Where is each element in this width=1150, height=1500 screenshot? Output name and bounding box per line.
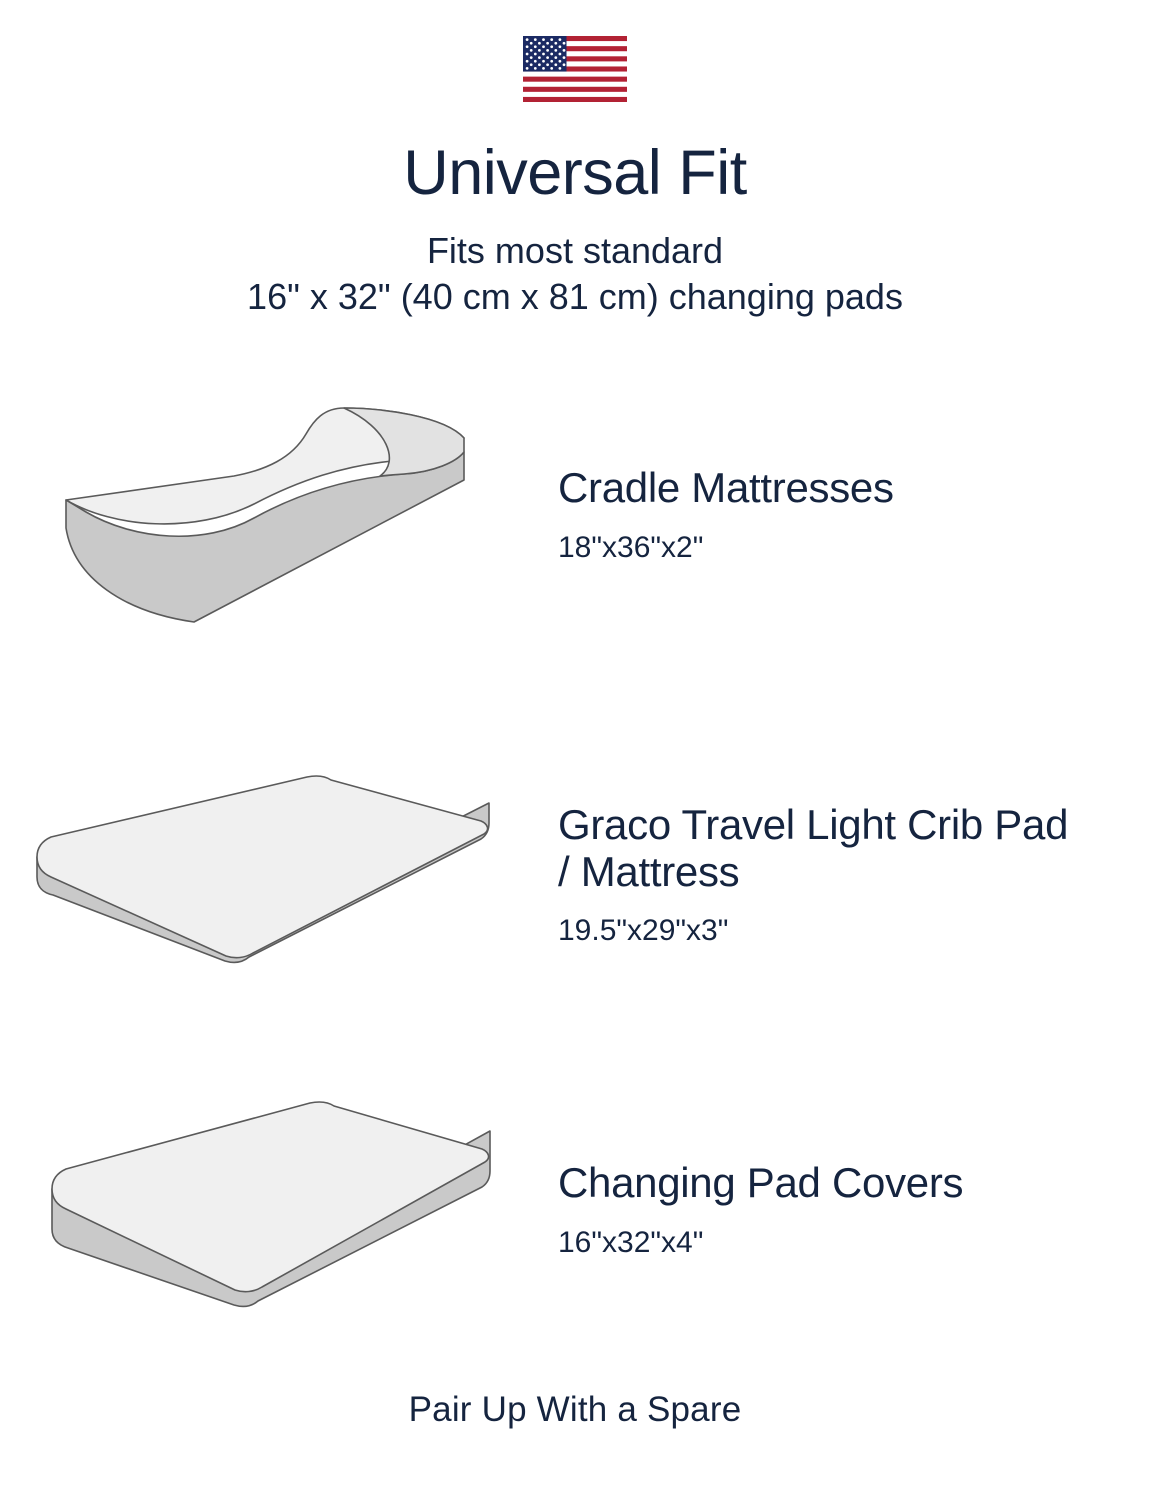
- product-row: Cradle Mattresses 18"x36"x2": [0, 400, 1150, 630]
- product-dimensions: 18"x36"x2": [558, 530, 1090, 566]
- flat-mattress-thin-icon: [29, 765, 519, 985]
- product-row: Changing Pad Covers 16"x32"x4": [0, 1090, 1150, 1330]
- contoured-changing-pad-icon: [44, 400, 504, 630]
- product-row: Graco Travel Light Crib Pad / Mattress 1…: [0, 760, 1150, 990]
- page-title: Universal Fit: [0, 140, 1150, 206]
- footer: Pair Up With a Spare: [0, 1390, 1150, 1430]
- product-title: Cradle Mattresses: [558, 464, 1090, 511]
- product-illustration-cell: [0, 760, 548, 990]
- page-subtitle: Fits most standard 16" x 32" (40 cm x 81…: [0, 228, 1150, 320]
- footer-tagline: Pair Up With a Spare: [409, 1390, 742, 1429]
- product-illustration-cell: [0, 1090, 548, 1330]
- product-dimensions: 16"x32"x4": [558, 1225, 1090, 1261]
- product-illustration-cell: [0, 400, 548, 630]
- subtitle-line-1: Fits most standard: [0, 228, 1150, 274]
- product-title: Changing Pad Covers: [558, 1159, 1090, 1206]
- subtitle-line-2: 16" x 32" (40 cm x 81 cm) changing pads: [0, 274, 1150, 320]
- product-text-cell: Graco Travel Light Crib Pad / Mattress 1…: [548, 801, 1150, 949]
- header: Universal Fit Fits most standard 16" x 3…: [0, 140, 1150, 320]
- product-text-cell: Cradle Mattresses 18"x36"x2": [548, 464, 1150, 565]
- product-title: Graco Travel Light Crib Pad / Mattress: [558, 801, 1090, 895]
- flat-mattress-thick-icon: [34, 1093, 514, 1328]
- us-flag-icon: [523, 36, 627, 102]
- flag-container: [0, 36, 1150, 107]
- product-dimensions: 19.5"x29"x3": [558, 913, 1090, 949]
- product-text-cell: Changing Pad Covers 16"x32"x4": [548, 1159, 1150, 1260]
